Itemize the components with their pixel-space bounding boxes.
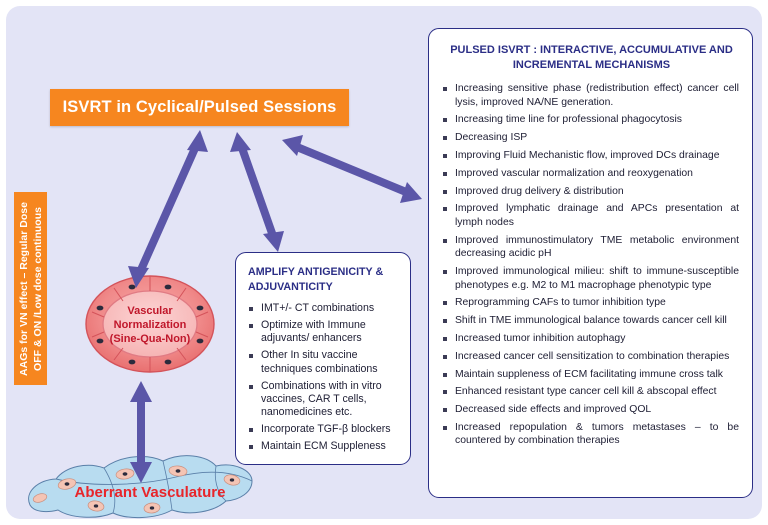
pulsed-isvrt-mechanisms-box: PULSED ISVRT : INTERACTIVE, ACCUMULATIVE… [428, 28, 753, 498]
aag-banner-line2: OFF & ON /Low dose continuous [31, 202, 45, 376]
list-item: Increasing sensitive phase (redistributi… [442, 82, 741, 109]
list-item: Improved immunostimulatory TME metabolic… [442, 234, 741, 261]
list-item: Decreasing ISP [442, 131, 741, 145]
list-item: Improved immunological milieu: shift to … [442, 265, 741, 292]
cell-label-line1: Vascular [127, 304, 172, 318]
list-item: Maintain ECM Suppleness [248, 440, 400, 453]
diagram-canvas: ISVRT in Cyclical/Pulsed Sessions AAGs f… [0, 0, 768, 525]
vascular-normalization-label-wrap: Vascular Normalization (Sine-Qua-Non) [86, 276, 214, 373]
list-item: Combinations with in vitro vaccines, CAR… [248, 380, 400, 420]
vascular-normalization-label: Vascular Normalization (Sine-Qua-Non) [86, 276, 214, 373]
list-item: Improved drug delivery & distribution [442, 185, 741, 199]
list-item: Maintain suppleness of ECM facilitating … [442, 368, 741, 382]
list-item: Shift in TME immunological balance towar… [442, 314, 741, 328]
list-item: Decreased side effects and improved QOL [442, 403, 741, 417]
aberrant-vasculature-label: Aberrant Vasculature [60, 484, 240, 501]
list-item: Improved vascular normalization and reox… [442, 167, 741, 181]
list-item: Increased cancer cell sensitization to c… [442, 350, 741, 364]
list-item: IMT+/- CT combinations [248, 302, 400, 315]
list-item: Increased repopulation & tumors metastas… [442, 421, 741, 448]
list-item: Increased tumor inhibition autophagy [442, 332, 741, 346]
amplify-antigenicity-box: AMPLIFY ANTIGENICITY & ADJUVANTICITY IMT… [235, 252, 411, 465]
aag-banner-text: AAGs for VN effect – Regular Dose OFF & … [17, 202, 45, 376]
isvrt-title-text: ISVRT in Cyclical/Pulsed Sessions [63, 98, 337, 117]
amplify-box-title: AMPLIFY ANTIGENICITY & ADJUVANTICITY [248, 265, 400, 294]
aag-vertical-banner: AAGs for VN effect – Regular Dose OFF & … [14, 192, 47, 385]
list-item: Optimize with Immune adjuvants/ enhancer… [248, 319, 400, 346]
aag-banner-line1: AAGs for VN effect – Regular Dose [17, 202, 31, 376]
list-item: Enhanced resistant type cancer cell kill… [442, 385, 741, 399]
list-item: Improved lymphatic drainage and APCs pre… [442, 202, 741, 229]
cell-label-line3: (Sine-Qua-Non) [110, 332, 191, 346]
list-item: Reprogramming CAFs to tumor inhibition t… [442, 296, 741, 310]
amplify-box-list: IMT+/- CT combinationsOptimize with Immu… [248, 302, 400, 454]
list-item: Improving Fluid Mechanistic flow, improv… [442, 149, 741, 163]
mechanisms-box-title: PULSED ISVRT : INTERACTIVE, ACCUMULATIVE… [444, 43, 739, 73]
cell-label-line2: Normalization [114, 318, 187, 332]
isvrt-title-banner: ISVRT in Cyclical/Pulsed Sessions [50, 89, 349, 126]
mechanisms-box-list: Increasing sensitive phase (redistributi… [442, 82, 741, 448]
list-item: Other In situ vaccine techniques combina… [248, 349, 400, 376]
list-item: Increasing time line for professional ph… [442, 113, 741, 127]
list-item: Incorporate TGF-β blockers [248, 423, 400, 436]
